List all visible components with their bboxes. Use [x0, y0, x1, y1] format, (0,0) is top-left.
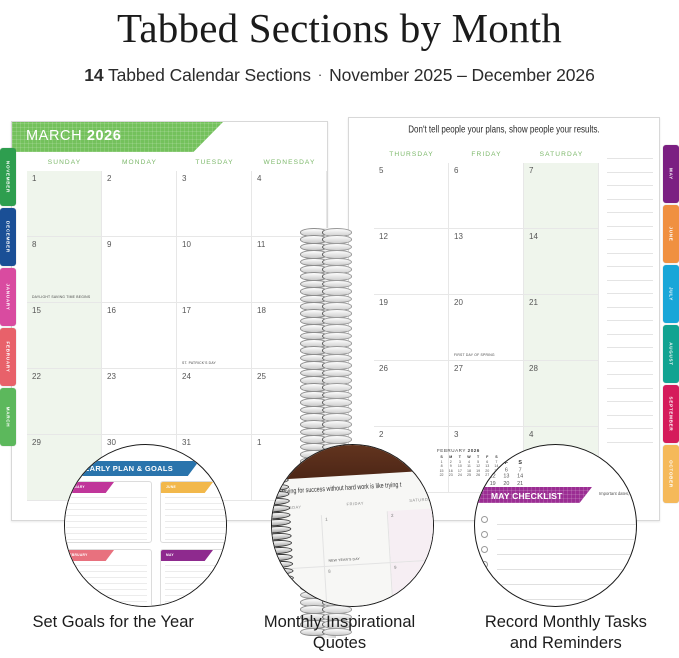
date-number: 22	[32, 372, 41, 381]
write-line	[66, 565, 147, 566]
date-number: 7	[529, 166, 533, 175]
write-line	[165, 595, 227, 596]
checklist-row[interactable]	[481, 528, 637, 543]
note-line	[607, 374, 653, 375]
quote-date-number: 8	[328, 569, 331, 574]
yearly-plan-month-box[interactable]: MAY	[160, 549, 227, 607]
write-line	[66, 509, 147, 510]
note-line	[607, 266, 653, 267]
note-line	[607, 347, 653, 348]
note-line	[607, 442, 653, 443]
left-day-header-row: SUNDAYMONDAYTUESDAYWEDNESDAY	[27, 154, 327, 171]
checkbox-circle-icon[interactable]	[481, 531, 488, 538]
checklist-write-line	[497, 569, 637, 570]
month-write-lines	[165, 565, 227, 607]
day-header-wednesday: WEDNESDAY	[252, 154, 327, 171]
mini-day: 25	[464, 473, 473, 478]
date-cell: 24	[177, 369, 252, 435]
spiral-coil	[300, 317, 352, 324]
date-number: 4	[529, 430, 533, 439]
month-tag: JUNE	[161, 482, 213, 493]
checklist-row[interactable]	[481, 603, 637, 607]
date-number: 4	[257, 174, 261, 183]
date-number: 18	[257, 306, 266, 315]
spiral-coil	[300, 235, 352, 242]
mini-day: 23	[446, 473, 455, 478]
note-line	[607, 226, 653, 227]
mini-day: 4	[474, 466, 486, 473]
right-day-header-row: THURSDAYFRIDAYSATURDAY	[374, 146, 599, 163]
date-event-label: FIRST DAY OF SPRING	[454, 353, 495, 357]
spiral-coil	[300, 243, 352, 250]
date-number: 28	[529, 364, 538, 373]
day-header-tuesday: TUESDAY	[177, 154, 252, 171]
date-cell: 12	[374, 229, 449, 295]
mini-day: 21	[513, 480, 527, 487]
caption-quotes: Monthly Inspirational Quotes	[226, 612, 452, 654]
write-line	[165, 527, 227, 528]
tab-august[interactable]: AUGUST	[663, 325, 679, 383]
tab-label: JUNE	[669, 226, 674, 241]
date-cell: 17ST. PATRICK'S DAY	[177, 303, 252, 369]
page-subtitle: 14 Tabbed Calendar Sections·November 202…	[0, 65, 679, 86]
write-line	[165, 601, 227, 602]
write-line	[165, 539, 227, 540]
date-number: 1	[257, 438, 261, 447]
date-cell: 16	[102, 303, 177, 369]
month-banner-text: MARCH 2026	[26, 128, 121, 144]
date-cell: 27	[449, 361, 524, 427]
date-cell: 9	[102, 237, 177, 303]
spiral-coil	[300, 280, 352, 287]
quote-day-header: SATURDAY	[388, 495, 434, 504]
spiral-coil	[300, 435, 352, 442]
quote-date-number: 1	[325, 517, 328, 522]
date-number: 9	[107, 240, 111, 249]
spiral-coil	[300, 413, 352, 420]
write-line	[66, 583, 147, 584]
spiral-coil	[300, 391, 352, 398]
date-number: 13	[454, 232, 463, 241]
date-cell: 6	[449, 163, 524, 229]
date-cell: 7	[524, 163, 599, 229]
date-cell: 2	[102, 171, 177, 237]
spiral-coil	[300, 332, 352, 339]
note-line	[607, 239, 653, 240]
section-count-label: Tabbed Calendar Sections	[104, 65, 311, 85]
tab-may[interactable]: MAY	[663, 145, 679, 203]
note-line	[607, 212, 653, 213]
page-title: Tabbed Sections by Month	[0, 2, 679, 54]
spiral-coil	[300, 361, 352, 368]
write-line	[66, 601, 147, 602]
month-tag: FEBRUARY	[64, 550, 114, 561]
date-number: 2	[107, 174, 111, 183]
write-line	[66, 589, 147, 590]
date-number: 24	[182, 372, 191, 381]
date-cell: 26	[374, 361, 449, 427]
spiral-coil	[300, 287, 352, 294]
checklist-mini-year: 2026	[474, 449, 489, 457]
tab-label: NOVEMBER	[6, 161, 11, 193]
notes-column[interactable]	[607, 158, 653, 458]
tab-label: FEBRUARY	[6, 342, 11, 373]
quote-text: Striving for success without hard work i…	[278, 481, 401, 496]
date-cell: 10	[177, 237, 252, 303]
quote-date-cell: 8	[325, 563, 394, 607]
checklist-header: MAY CHECKLIST	[474, 487, 592, 503]
month-tag-label: JUNE	[166, 485, 176, 489]
date-number: 31	[182, 438, 191, 447]
caption-tasks: Record Monthly Tasks and Reminders	[453, 612, 679, 654]
spiral-coil	[300, 398, 352, 405]
note-line	[607, 307, 653, 308]
mini-day: 20	[500, 480, 514, 487]
note-line	[607, 199, 653, 200]
date-number: 16	[107, 306, 116, 315]
quote-date-cell: 1NEW YEAR'S DAY	[322, 511, 391, 567]
date-cell: 8DAYLIGHT SAVING TIME BEGINS	[27, 237, 102, 303]
write-line	[66, 527, 147, 528]
checklist-row[interactable]	[481, 543, 637, 558]
spiral-coil	[300, 309, 352, 316]
day-header-friday: FRIDAY	[449, 146, 524, 163]
checklist-row[interactable]	[481, 513, 637, 528]
caption-quotes-line1: Monthly Inspirational	[264, 613, 415, 631]
caption-quotes-line2: Quotes	[313, 634, 366, 652]
spiral-coil	[300, 228, 352, 235]
date-number: 23	[107, 372, 116, 381]
caption-set-goals: Set Goals for the Year	[0, 612, 226, 654]
month-tag-label: MAY	[166, 553, 174, 557]
day-header-thursday: THURSDAY	[374, 146, 449, 163]
tab-july[interactable]: JULY	[663, 265, 679, 323]
checkbox-circle-icon[interactable]	[481, 516, 488, 523]
spiral-coil	[300, 420, 352, 427]
write-line	[66, 533, 147, 534]
date-cell: 23	[102, 369, 177, 435]
write-line	[165, 577, 227, 578]
write-line	[165, 583, 227, 584]
date-event-label: DAYLIGHT SAVING TIME BEGINS	[32, 295, 90, 299]
yearly-plan-title: YEARLY PLAN & GOALS	[79, 464, 173, 473]
date-cell: 5	[374, 163, 449, 229]
quote-spiral-coil	[271, 602, 295, 607]
note-line	[607, 401, 653, 402]
checkbox-circle-icon[interactable]	[481, 591, 488, 598]
note-line	[607, 415, 653, 416]
mini-day: 5	[486, 466, 500, 473]
month-tag: MAY	[161, 550, 213, 561]
tab-label: JANUARY	[6, 284, 11, 311]
tab-label: MAY	[669, 168, 674, 180]
date-number: 14	[529, 232, 538, 241]
date-number: 2	[379, 430, 383, 439]
spiral-coil	[300, 383, 352, 390]
checkbox-circle-icon[interactable]	[481, 546, 488, 553]
tab-february[interactable]: FEBRUARY	[0, 328, 16, 386]
spiral-coil	[300, 354, 352, 361]
write-line	[66, 539, 147, 540]
separator-dot: ·	[311, 67, 329, 82]
day-header-sunday: SUNDAY	[27, 154, 102, 171]
tab-label: SEPTEMBER	[669, 397, 674, 432]
spiral-coil	[300, 295, 352, 302]
note-line	[607, 334, 653, 335]
month-write-lines	[66, 565, 147, 607]
date-number: 10	[182, 240, 191, 249]
spiral-coil	[300, 250, 352, 257]
checklist-note: Important dates, tasks	[599, 491, 637, 496]
write-line	[66, 595, 147, 596]
mini-day: 7	[513, 466, 527, 473]
date-number: 19	[379, 298, 388, 307]
date-number: 21	[529, 298, 538, 307]
yearly-plan-header: YEARLY PLAN & GOALS	[64, 461, 199, 476]
date-number: 29	[32, 438, 41, 447]
date-number: 27	[454, 364, 463, 373]
month-write-lines	[66, 497, 147, 543]
section-count: 14	[84, 65, 103, 85]
spiral-coil	[300, 265, 352, 272]
date-cell: 14	[524, 229, 599, 295]
write-line	[165, 521, 227, 522]
date-number: 3	[182, 174, 186, 183]
tab-november[interactable]: NOVEMBER	[0, 148, 16, 206]
note-line	[607, 293, 653, 294]
date-number: 12	[379, 232, 388, 241]
note-line	[607, 158, 653, 159]
mini-day: 18	[474, 480, 486, 487]
date-number: 25	[257, 372, 266, 381]
checklist-title: MAY CHECKLIST	[491, 491, 563, 501]
spiral-coil	[300, 376, 352, 383]
note-line	[607, 361, 653, 362]
mini-day: 19	[486, 480, 500, 487]
checklist-write-line	[497, 524, 637, 525]
date-cell: 15	[27, 303, 102, 369]
callout-yearly-plan: YEARLY PLAN & GOALS JANUARYJUNEFEBRUARYM…	[64, 444, 227, 607]
checklist-write-line	[497, 584, 637, 585]
month-tag: JANUARY	[64, 482, 114, 493]
date-cell: 28	[524, 361, 599, 427]
note-line	[607, 428, 653, 429]
note-line	[607, 185, 653, 186]
mini-day: 24	[455, 473, 464, 478]
write-line	[165, 503, 227, 504]
mini-dow: T	[486, 460, 500, 467]
feature-captions: Set Goals for the Year Monthly Inspirati…	[0, 612, 679, 654]
spiral-coil	[300, 369, 352, 376]
spiral-coil	[300, 302, 352, 309]
date-number: 6	[454, 166, 458, 175]
tab-september[interactable]: SEPTEMBER	[663, 385, 679, 443]
mini-day: 14	[513, 473, 527, 480]
yearly-plan-month-box[interactable]: JUNE	[160, 481, 227, 543]
tab-label: DECEMBER	[6, 221, 11, 253]
quote-date-number: 9	[394, 565, 397, 570]
checkbox-circle-icon[interactable]	[481, 576, 488, 583]
tab-june[interactable]: JUNE	[663, 205, 679, 263]
quote-date-number: 2	[391, 513, 394, 518]
tab-label: AUGUST	[669, 342, 674, 366]
tab-january[interactable]: JANUARY	[0, 268, 16, 326]
note-line	[607, 253, 653, 254]
caption-tasks-line1: Record Monthly Tasks	[485, 613, 647, 631]
note-line	[607, 320, 653, 321]
write-line	[66, 571, 147, 572]
month-tag-label: JANUARY	[67, 485, 85, 489]
mini-day: 12	[486, 473, 500, 480]
date-number: 30	[107, 438, 116, 447]
tab-label: MARCH	[6, 407, 11, 428]
date-cell: 19	[374, 295, 449, 361]
month-tag-label: FEBRUARY	[67, 553, 88, 557]
date-number: 3	[454, 430, 458, 439]
quote-date-event: NEW YEAR'S DAY	[328, 557, 360, 563]
date-number: 17	[182, 306, 191, 315]
day-header-monday: MONDAY	[102, 154, 177, 171]
callout-monthly-checklist: JANUARY 2026SMTWTFS123456789101112131415…	[474, 444, 637, 607]
write-line	[66, 497, 147, 498]
write-line	[66, 515, 147, 516]
quote-date-cell: 2	[388, 507, 434, 563]
date-number: 26	[379, 364, 388, 373]
checklist-row[interactable]	[481, 573, 637, 588]
day-header-saturday: SATURDAY	[524, 146, 599, 163]
checklist-write-line	[497, 599, 637, 600]
checkbox-circle-icon[interactable]	[481, 606, 488, 607]
tab-label: JULY	[669, 287, 674, 301]
spiral-coil	[300, 339, 352, 346]
date-range: November 2025 – December 2026	[329, 65, 595, 85]
write-line	[66, 577, 147, 578]
month-year: 2026	[87, 128, 122, 144]
write-line	[165, 515, 227, 516]
date-number: 15	[32, 306, 41, 315]
spiral-coil	[300, 324, 352, 331]
date-number: 5	[379, 166, 383, 175]
date-cell: 1	[27, 171, 102, 237]
spiral-coil	[300, 272, 352, 279]
yearly-plan-month-box[interactable]: FEBRUARY	[64, 549, 152, 607]
note-line	[607, 172, 653, 173]
write-line	[66, 503, 147, 504]
monthly-quote: Don't tell people your plans, show peopl…	[349, 124, 659, 135]
tab-october[interactable]: OCTOBER	[663, 445, 679, 503]
tab-december[interactable]: DECEMBER	[0, 208, 16, 266]
month-name: MARCH	[26, 128, 82, 144]
callout-inspirational-quote: Striving for success without hard work i…	[271, 444, 434, 607]
date-cell: 21	[524, 295, 599, 361]
mini-dow: F	[500, 460, 514, 467]
month-write-lines	[165, 497, 227, 543]
header: Tabbed Sections by Month 14 Tabbed Calen…	[0, 0, 679, 86]
date-cell: 22	[27, 369, 102, 435]
date-cell: 3	[177, 171, 252, 237]
checklist-write-line	[497, 539, 637, 540]
right-month-tabs[interactable]: MAYJUNEJULYAUGUSTSEPTEMBEROCTOBER	[663, 145, 679, 505]
mini-day: 13	[500, 473, 514, 480]
note-line	[607, 280, 653, 281]
date-number: 1	[32, 174, 36, 183]
yearly-plan-month-grid: JANUARYJUNEFEBRUARYMAYMARCHAPRIL	[64, 481, 227, 607]
checklist-rows[interactable]	[481, 513, 637, 607]
write-line	[66, 521, 147, 522]
mini-dow: S	[513, 460, 527, 467]
spiral-coil	[300, 346, 352, 353]
date-cell: 20FIRST DAY OF SPRING	[449, 295, 524, 361]
mini-day: 11	[474, 473, 486, 480]
quote-date-cell: 9	[391, 559, 434, 607]
write-line	[165, 497, 227, 498]
date-event-label: ST. PATRICK'S DAY	[182, 361, 216, 365]
spiral-coil	[300, 258, 352, 265]
checklist-write-line	[497, 554, 637, 555]
mini-dow: W	[474, 460, 486, 467]
spiral-coil	[300, 406, 352, 413]
mini-day: 22	[437, 473, 446, 478]
tab-march[interactable]: MARCH	[0, 388, 16, 446]
write-line	[165, 509, 227, 510]
caption-tasks-line2: and Reminders	[510, 634, 622, 652]
quote-day-header: FRIDAY	[322, 499, 389, 508]
mini-month-name: FEBRUARY	[437, 448, 466, 453]
checkbox-circle-icon[interactable]	[481, 561, 488, 568]
checklist-row[interactable]	[481, 558, 637, 573]
date-number: 20	[454, 298, 463, 307]
tab-label: OCTOBER	[669, 460, 674, 488]
yearly-plan-month-box[interactable]: JANUARY	[64, 481, 152, 543]
date-number: 8	[32, 240, 36, 249]
mini-day: 6	[500, 466, 514, 473]
product-feature-page: Tabbed Sections by Month 14 Tabbed Calen…	[0, 0, 679, 658]
write-line	[165, 589, 227, 590]
date-cell: 13	[449, 229, 524, 295]
write-line	[165, 533, 227, 534]
checklist-mini-title: JANUARY 2026	[474, 449, 527, 457]
note-line	[607, 388, 653, 389]
date-number: 11	[257, 240, 265, 249]
write-line	[165, 565, 227, 566]
checklist-row[interactable]	[481, 588, 637, 603]
left-month-tabs[interactable]: NOVEMBERDECEMBERJANUARYFEBRUARYMARCH	[0, 148, 16, 448]
spiral-coil	[300, 428, 352, 435]
write-line	[165, 571, 227, 572]
